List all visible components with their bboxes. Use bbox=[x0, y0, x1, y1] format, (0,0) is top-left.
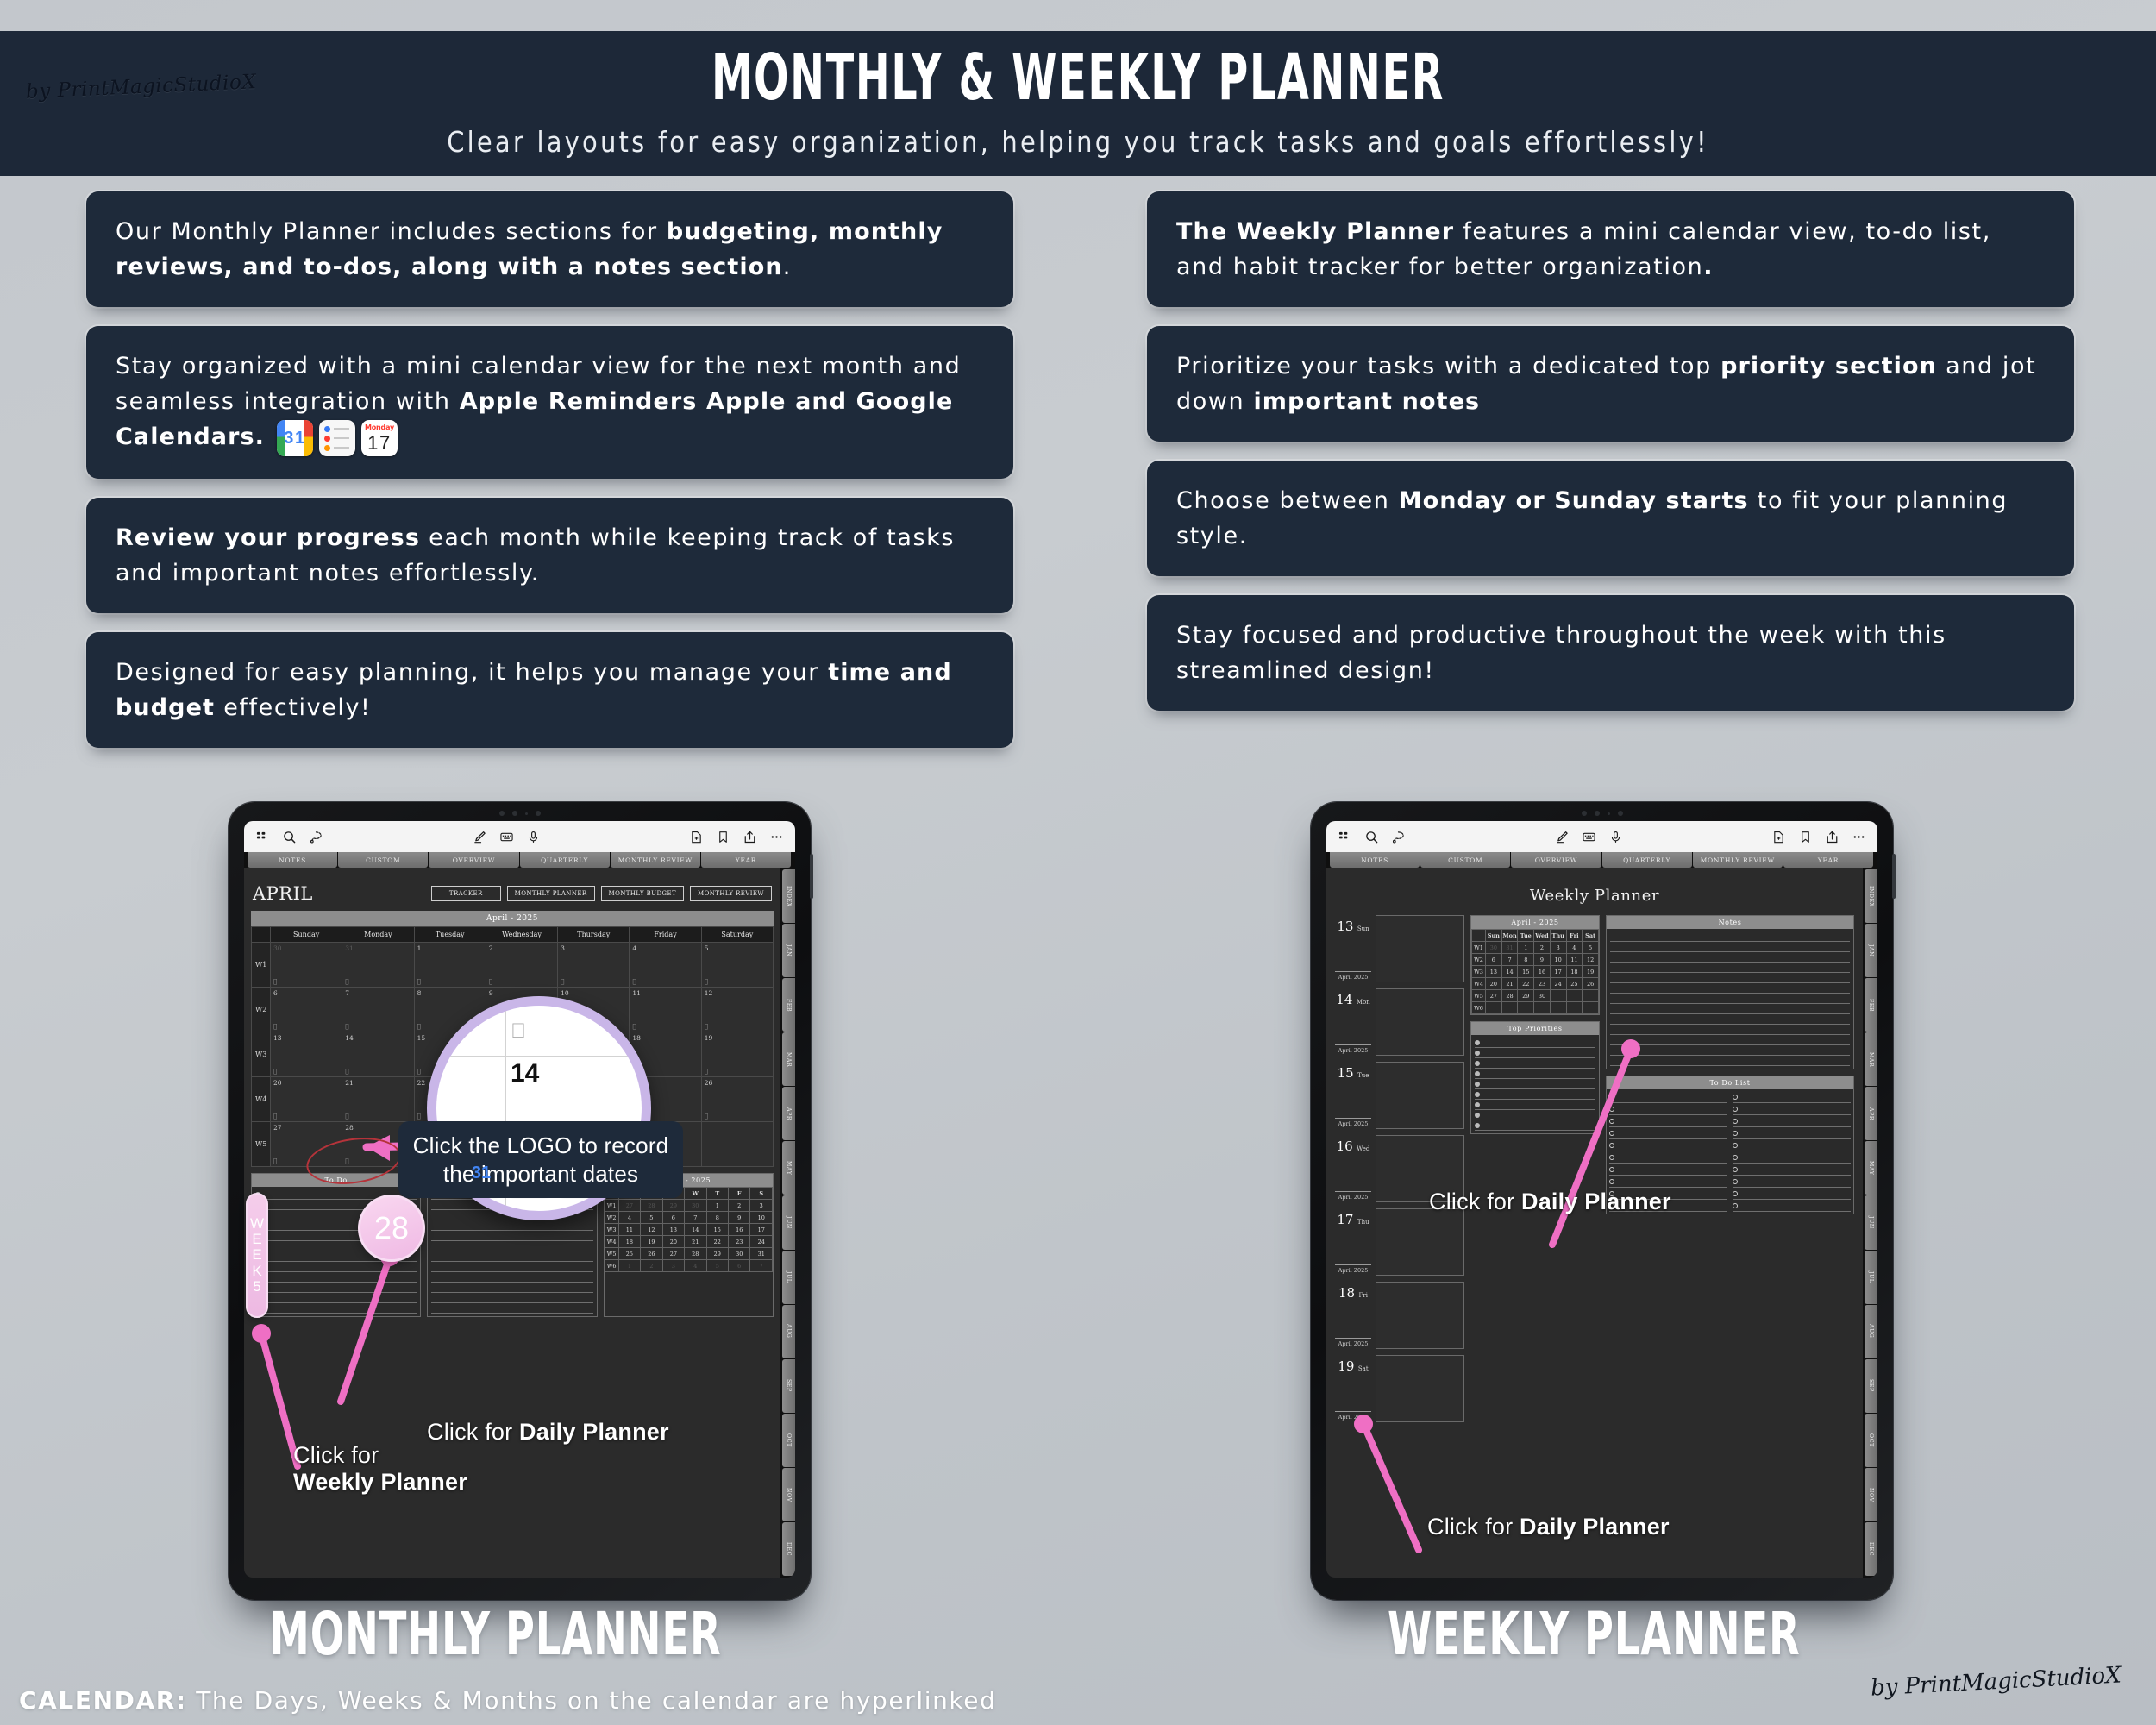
notebook-tab-overview[interactable]: OVERVIEW bbox=[429, 852, 518, 868]
mini-day-cell[interactable]: 7 bbox=[1501, 954, 1518, 966]
mini-day-cell[interactable]: 22 bbox=[706, 1236, 728, 1248]
search-icon[interactable] bbox=[1365, 831, 1378, 844]
calendar-day-cell[interactable]: 3 bbox=[558, 943, 630, 988]
calendar-week-label[interactable]: W3 bbox=[252, 1032, 271, 1077]
mini-day-cell[interactable]: 27 bbox=[1486, 990, 1502, 1002]
mini-day-cell[interactable]: 17 bbox=[750, 1224, 773, 1236]
mini-day-cell[interactable]: 11 bbox=[1566, 954, 1583, 966]
weekly-todo-column-b[interactable] bbox=[1730, 1089, 1853, 1214]
calendar-day-cell[interactable]: 4 bbox=[630, 943, 701, 988]
mini-day-cell[interactable]: 25 bbox=[618, 1248, 640, 1260]
notes-line[interactable] bbox=[431, 1272, 592, 1283]
mini-day-cell[interactable]: 24 bbox=[750, 1236, 773, 1248]
weekly-day-writing-area[interactable] bbox=[1376, 1282, 1464, 1349]
apple-logo-icon[interactable]:  bbox=[417, 1023, 421, 1030]
apple-logo-icon[interactable]:  bbox=[273, 1157, 277, 1164]
weekly-notes-line[interactable] bbox=[1610, 952, 1850, 963]
feature-card-text: effectively! bbox=[215, 694, 371, 721]
month-tab-apr[interactable]: APR bbox=[1865, 1087, 1877, 1140]
top-priorities-panel: Top Priorities bbox=[1470, 1021, 1600, 1134]
mini-day-cell[interactable]: 7 bbox=[685, 1212, 706, 1224]
mini-day-cell[interactable]: 27 bbox=[662, 1248, 684, 1260]
apple-logo-icon[interactable]:  bbox=[417, 1068, 421, 1075]
notebook-tab-year[interactable]: YEAR bbox=[701, 852, 791, 868]
priority-list-item[interactable] bbox=[1475, 1110, 1595, 1120]
weekly-todo-item[interactable] bbox=[1609, 1139, 1727, 1151]
priority-list-item[interactable] bbox=[1475, 1048, 1595, 1058]
notebook-tab-quarterly[interactable]: QUARTERLY bbox=[1602, 852, 1692, 868]
mini-day-cell[interactable]: 3 bbox=[662, 1260, 684, 1272]
date-bubble-28[interactable]: 28 bbox=[358, 1195, 425, 1262]
list-bullet bbox=[1733, 1191, 1738, 1196]
weekly-todo-item[interactable] bbox=[1733, 1176, 1851, 1188]
calendar-day-cell[interactable]: 13 bbox=[271, 1032, 342, 1077]
mini-week-label[interactable]: W4 bbox=[1472, 978, 1486, 990]
month-tab-may[interactable]: MAY bbox=[782, 1141, 795, 1195]
mini-day-cell[interactable]: 5 bbox=[641, 1212, 662, 1224]
todo-list-item[interactable] bbox=[255, 1283, 417, 1293]
weekly-notes-line[interactable] bbox=[1610, 942, 1850, 952]
todo-list-item[interactable] bbox=[255, 1303, 417, 1314]
weekly-notes-line[interactable] bbox=[1610, 1025, 1850, 1035]
mini-day-cell[interactable] bbox=[1583, 990, 1599, 1002]
mini-day-cell[interactable]: 28 bbox=[685, 1248, 706, 1260]
calendar-weekday-header: Wednesday bbox=[486, 927, 557, 943]
grid-icon[interactable] bbox=[1338, 831, 1351, 844]
mini-day-cell[interactable] bbox=[1486, 1002, 1502, 1014]
mini-day-cell[interactable]: 4 bbox=[1566, 942, 1583, 954]
mini-day-cell[interactable] bbox=[1583, 1002, 1599, 1014]
mini-day-cell[interactable]: 24 bbox=[1550, 978, 1566, 990]
weekly-notes-line[interactable] bbox=[1610, 1014, 1850, 1025]
weekly-day-row[interactable]: 17 ThuApril 2025 bbox=[1335, 1208, 1464, 1276]
mini-day-cell[interactable]: 25 bbox=[1566, 978, 1583, 990]
weekly-notes-line[interactable] bbox=[1610, 1004, 1850, 1014]
notes-line[interactable] bbox=[431, 1220, 592, 1231]
weekly-day-row[interactable]: 13 SunApril 2025 bbox=[1335, 915, 1464, 982]
mini-week-label[interactable]: W3 bbox=[605, 1224, 618, 1236]
add-page-icon[interactable] bbox=[1772, 831, 1785, 844]
apple-logo-icon[interactable]:  bbox=[273, 1113, 277, 1120]
month-tab-jul[interactable]: JUL bbox=[1865, 1251, 1877, 1304]
todo-list-item[interactable] bbox=[255, 1272, 417, 1283]
mini-day-cell[interactable]: 1 bbox=[706, 1200, 728, 1212]
pen-icon[interactable] bbox=[473, 831, 486, 844]
calendar-day-cell[interactable]: 20 bbox=[271, 1077, 342, 1122]
priority-list-item[interactable] bbox=[1475, 1079, 1595, 1089]
apple-logo-icon[interactable]:  bbox=[417, 1113, 421, 1120]
month-tab-apr[interactable]: APR bbox=[782, 1087, 795, 1140]
weekly-todo-item[interactable] bbox=[1733, 1151, 1851, 1164]
mini-day-cell[interactable]: 11 bbox=[618, 1224, 640, 1236]
monthly-button-monthly-planner[interactable]: MONTHLY PLANNER bbox=[507, 886, 595, 901]
mini-week-row: W420212223242526 bbox=[1472, 978, 1599, 990]
bookmark-icon[interactable] bbox=[717, 831, 730, 844]
mini-day-cell[interactable]: 16 bbox=[729, 1224, 750, 1236]
calendar-day-cell[interactable]: 14 bbox=[342, 1032, 414, 1077]
keyboard-icon[interactable] bbox=[500, 831, 513, 844]
weekly-day-label[interactable]: 15 TueApril 2025 bbox=[1335, 1062, 1371, 1129]
apple-logo-icon[interactable]:  bbox=[705, 1023, 708, 1030]
weekly-todo-item[interactable] bbox=[1609, 1164, 1727, 1176]
notes-line[interactable] bbox=[431, 1241, 592, 1251]
mini-day-cell[interactable] bbox=[1550, 990, 1566, 1002]
apple-logo-icon[interactable]:  bbox=[705, 978, 708, 985]
weekly-todo-item[interactable] bbox=[1733, 1115, 1851, 1127]
weekly-todo-item[interactable] bbox=[1609, 1151, 1727, 1164]
mini-day-cell[interactable]: 26 bbox=[1583, 978, 1599, 990]
mini-week-label[interactable]: W3 bbox=[1472, 966, 1486, 978]
weekly-day-row[interactable]: 15 TueApril 2025 bbox=[1335, 1062, 1464, 1129]
mini-day-cell[interactable]: 29 bbox=[662, 1200, 684, 1212]
calendar-day-cell[interactable]: 12 bbox=[701, 988, 773, 1032]
week5-char: E bbox=[252, 1232, 261, 1247]
google-calendar-icon[interactable]: 31 bbox=[459, 1151, 504, 1195]
mini-day-cell[interactable]: 30 bbox=[685, 1200, 706, 1212]
weekly-day-writing-area[interactable] bbox=[1376, 1062, 1464, 1129]
apple-logo-icon[interactable]:  bbox=[705, 1068, 708, 1075]
mini-day-cell[interactable]: 13 bbox=[1486, 966, 1502, 978]
month-tab-jul[interactable]: JUL bbox=[782, 1251, 795, 1304]
priority-list-item[interactable] bbox=[1475, 1100, 1595, 1110]
notes-line[interactable] bbox=[431, 1262, 592, 1272]
month-tab-index[interactable]: INDEX bbox=[782, 869, 795, 923]
top-priorities-lines[interactable] bbox=[1471, 1035, 1599, 1133]
calendar-day-cell[interactable]: 6 bbox=[271, 988, 342, 1032]
mini-day-cell[interactable]: 14 bbox=[1501, 966, 1518, 978]
mini-day-cell[interactable]: 22 bbox=[1518, 978, 1534, 990]
weekly-notes-line[interactable] bbox=[1610, 1045, 1850, 1056]
apple-logo-icon[interactable]:  bbox=[273, 978, 277, 985]
grid-icon[interactable] bbox=[256, 831, 269, 844]
mini-day-cell[interactable]: 31 bbox=[1501, 942, 1518, 954]
month-tab-jun[interactable]: JUN bbox=[782, 1195, 795, 1249]
lasso-icon[interactable] bbox=[1392, 831, 1405, 844]
mini-week-label[interactable]: W5 bbox=[1472, 990, 1486, 1002]
mini-day-cell[interactable]: 9 bbox=[1534, 954, 1551, 966]
mini-day-cell[interactable]: 6 bbox=[729, 1260, 750, 1272]
weekly-todo-item[interactable] bbox=[1609, 1127, 1727, 1139]
share-icon[interactable] bbox=[1826, 831, 1839, 844]
calendar-day-cell[interactable]: 1 bbox=[414, 943, 486, 988]
mini-day-cell[interactable]: 19 bbox=[641, 1236, 662, 1248]
mini-day-cell[interactable]: 30 bbox=[729, 1248, 750, 1260]
search-icon[interactable] bbox=[283, 831, 296, 844]
month-tab-index[interactable]: INDEX bbox=[1865, 869, 1877, 923]
apple-logo-icon[interactable]:  bbox=[273, 1068, 277, 1075]
add-page-icon[interactable] bbox=[690, 831, 703, 844]
notes-line[interactable] bbox=[431, 1251, 592, 1262]
todo-list-item[interactable] bbox=[255, 1293, 417, 1303]
weekly-todo-item[interactable] bbox=[1609, 1115, 1727, 1127]
weekly-day-weekday: Wed bbox=[1357, 1145, 1369, 1152]
mini-day-cell[interactable]: 26 bbox=[641, 1248, 662, 1260]
month-tab-dec[interactable]: DEC bbox=[1865, 1522, 1877, 1576]
weekly-todo-item[interactable] bbox=[1733, 1103, 1851, 1115]
weekly-todo-item[interactable] bbox=[1733, 1200, 1851, 1212]
month-tab-feb[interactable]: FEB bbox=[782, 978, 795, 1032]
calendar-day-cell[interactable]: 19 bbox=[701, 1032, 773, 1077]
calendar-day-cell[interactable]: 2 bbox=[486, 943, 557, 988]
mini-day-cell[interactable]: 2 bbox=[641, 1260, 662, 1272]
weekly-notes-line[interactable] bbox=[1610, 931, 1850, 942]
notebook-tab-overview[interactable]: OVERVIEW bbox=[1511, 852, 1601, 868]
apple-logo-icon[interactable]:  bbox=[345, 1023, 348, 1030]
mini-day-cell[interactable]: 20 bbox=[1486, 978, 1502, 990]
month-tab-feb[interactable]: FEB bbox=[1865, 978, 1877, 1032]
mini-day-cell[interactable]: 3 bbox=[750, 1200, 773, 1212]
mini-day-cell[interactable]: 10 bbox=[750, 1212, 773, 1224]
annotation-prefix: Click for bbox=[1427, 1514, 1520, 1540]
apple-reminders-icon[interactable] bbox=[319, 420, 355, 456]
mini-day-cell[interactable] bbox=[1518, 1002, 1534, 1014]
monthly-button-monthly-budget[interactable]: MONTHLY BUDGET bbox=[601, 886, 684, 901]
month-tab-mar[interactable]: MAR bbox=[1865, 1032, 1877, 1086]
week5-char: E bbox=[252, 1247, 261, 1263]
weekly-todo-item[interactable] bbox=[1609, 1103, 1727, 1115]
month-tab-jan[interactable]: JAN bbox=[782, 924, 795, 977]
mini-day-cell[interactable]: 1 bbox=[618, 1260, 640, 1272]
weekly-todo-item[interactable] bbox=[1733, 1127, 1851, 1139]
apple-logo-icon[interactable]:  bbox=[345, 1113, 348, 1120]
mini-day-cell[interactable]: 19 bbox=[1583, 966, 1599, 978]
apple-logo-icon[interactable]:  bbox=[417, 978, 421, 985]
priority-list-item[interactable] bbox=[1475, 1069, 1595, 1079]
mini-day-cell[interactable]: 20 bbox=[662, 1236, 684, 1248]
weekly-day-row[interactable]: 18 FriApril 2025 bbox=[1335, 1282, 1464, 1349]
weekly-day-writing-area[interactable] bbox=[1376, 1355, 1464, 1422]
notes-line[interactable] bbox=[431, 1293, 592, 1303]
more-icon[interactable] bbox=[1852, 831, 1865, 844]
weekly-notes-line[interactable] bbox=[1610, 994, 1850, 1004]
mini-day-cell[interactable]: 4 bbox=[685, 1260, 706, 1272]
weekly-todo-item[interactable] bbox=[1733, 1091, 1851, 1103]
mini-day-cell[interactable]: 21 bbox=[1501, 978, 1518, 990]
mini-day-cell[interactable] bbox=[1501, 1002, 1518, 1014]
mini-day-cell[interactable]: 21 bbox=[685, 1236, 706, 1248]
weekly-mini-grid[interactable]: SunMonTueWedThuFriSatW1303112345W2678910… bbox=[1471, 929, 1599, 1014]
mini-day-cell[interactable]: 15 bbox=[1518, 966, 1534, 978]
notebook-tab-monthly-review[interactable]: MONTHLY REVIEW bbox=[1693, 852, 1783, 868]
weekly-day-label[interactable]: 16 WedApril 2025 bbox=[1335, 1135, 1371, 1202]
mini-day-cell[interactable]: 16 bbox=[1534, 966, 1551, 978]
mini-day-cell[interactable]: 2 bbox=[729, 1200, 750, 1212]
mini-day-cell[interactable] bbox=[1550, 1002, 1566, 1014]
mini-day-cell[interactable]: 6 bbox=[1486, 954, 1502, 966]
mini-week-row: W527282930 bbox=[1472, 990, 1599, 1002]
apple-calendar-icon[interactable]: Monday17 bbox=[361, 420, 398, 456]
month-tab-oct[interactable]: OCT bbox=[782, 1414, 795, 1467]
weekly-todo-item[interactable] bbox=[1733, 1139, 1851, 1151]
mini-day-cell[interactable]: 23 bbox=[729, 1236, 750, 1248]
weekly-day-label[interactable]: 14 MonApril 2025 bbox=[1335, 988, 1371, 1056]
mini-day-cell[interactable]: 2 bbox=[1534, 942, 1551, 954]
weekly-notes-lines[interactable] bbox=[1607, 929, 1853, 1069]
microphone-icon[interactable] bbox=[527, 831, 540, 844]
weekly-day-writing-area[interactable] bbox=[1376, 988, 1464, 1056]
mini-day-cell[interactable]: 14 bbox=[685, 1224, 706, 1236]
notes-line[interactable] bbox=[431, 1303, 592, 1314]
calendar-day-cell[interactable]: 5 bbox=[701, 943, 773, 988]
keyboard-icon[interactable] bbox=[1583, 831, 1595, 844]
weekly-day-writing-area[interactable] bbox=[1376, 1208, 1464, 1276]
mini-day-cell[interactable]: 12 bbox=[1583, 954, 1599, 966]
list-bullet bbox=[1475, 1113, 1480, 1118]
more-icon[interactable] bbox=[770, 831, 783, 844]
monthly-button-tracker[interactable]: TRACKER bbox=[431, 886, 501, 901]
mini-day-cell[interactable]: 29 bbox=[706, 1248, 728, 1260]
priority-list-item[interactable] bbox=[1475, 1120, 1595, 1131]
mini-day-cell[interactable]: 1 bbox=[1518, 942, 1534, 954]
calendar-day-cell[interactable] bbox=[701, 1122, 773, 1167]
mini-day-cell[interactable]: 5 bbox=[706, 1260, 728, 1272]
weekly-todo-item[interactable] bbox=[1609, 1176, 1727, 1188]
mini-day-cell[interactable]: 18 bbox=[1566, 966, 1583, 978]
annotation-bold: Daily Planner bbox=[1520, 1514, 1670, 1540]
weekly-todo-item[interactable] bbox=[1609, 1091, 1727, 1103]
mini-day-cell[interactable]: 30 bbox=[1534, 990, 1551, 1002]
calendar-week-label[interactable]: W2 bbox=[252, 988, 271, 1032]
notebook-tab-notes[interactable]: NOTES bbox=[248, 852, 337, 868]
mini-day-cell[interactable]: 31 bbox=[750, 1248, 773, 1260]
mini-week-label[interactable]: W2 bbox=[605, 1212, 618, 1224]
weekly-day-label[interactable]: 19 SatApril 2025 bbox=[1335, 1355, 1371, 1422]
calendar-day-cell[interactable]: 7 bbox=[342, 988, 414, 1032]
mini-day-cell[interactable]: 15 bbox=[706, 1224, 728, 1236]
bookmark-icon[interactable] bbox=[1799, 831, 1812, 844]
mini-day-cell[interactable]: 13 bbox=[662, 1224, 684, 1236]
month-tab-nov[interactable]: NOV bbox=[1865, 1468, 1877, 1521]
mini-day-cell[interactable]: 17 bbox=[1550, 966, 1566, 978]
notebook-tab-quarterly[interactable]: QUARTERLY bbox=[520, 852, 610, 868]
weekly-notes-line[interactable] bbox=[1610, 983, 1850, 994]
weekly-day-row[interactable]: 19 SatApril 2025 bbox=[1335, 1355, 1464, 1422]
apple-logo-icon[interactable]:  bbox=[561, 978, 564, 985]
weekly-todo-item[interactable] bbox=[1733, 1188, 1851, 1200]
week5-side-tab[interactable]: W E E K 5 bbox=[246, 1193, 268, 1318]
month-tab-dec[interactable]: DEC bbox=[782, 1522, 795, 1576]
month-tab-jun[interactable]: JUN bbox=[1865, 1195, 1877, 1249]
mini-day-cell[interactable]: 23 bbox=[1534, 978, 1551, 990]
month-tab-aug[interactable]: AUG bbox=[782, 1305, 795, 1358]
microphone-icon[interactable] bbox=[1609, 831, 1622, 844]
weekly-todo-item[interactable] bbox=[1733, 1164, 1851, 1176]
mini-day-cell[interactable]: 30 bbox=[1486, 942, 1502, 954]
mini-day-cell[interactable]: 28 bbox=[1501, 990, 1518, 1002]
weekly-notes-line[interactable] bbox=[1610, 1035, 1850, 1045]
mini-day-cell[interactable]: 6 bbox=[662, 1212, 684, 1224]
apple-logo-icon[interactable]:  bbox=[511, 1019, 526, 1044]
mini-day-cell[interactable]: 5 bbox=[1583, 942, 1599, 954]
month-tab-oct[interactable]: OCT bbox=[1865, 1414, 1877, 1467]
notebook-tab-custom[interactable]: CUSTOM bbox=[338, 852, 428, 868]
calendar-week-label[interactable]: W4 bbox=[252, 1077, 271, 1122]
mini-week-label[interactable]: W5 bbox=[605, 1248, 618, 1260]
priority-list-item[interactable] bbox=[1475, 1089, 1595, 1100]
mini-week-label[interactable]: W4 bbox=[605, 1236, 618, 1248]
priority-list-item[interactable] bbox=[1475, 1038, 1595, 1048]
calendar-week-label[interactable]: W5 bbox=[252, 1122, 271, 1167]
mini-day-cell[interactable]: 7 bbox=[750, 1260, 773, 1272]
calendar-day-cell[interactable]: 30 bbox=[271, 943, 342, 988]
apple-logo-icon[interactable]:  bbox=[489, 978, 492, 985]
google-calendar-icon[interactable]: 31 bbox=[277, 420, 313, 456]
calendar-day-cell[interactable]: 26 bbox=[701, 1077, 773, 1122]
power-button[interactable] bbox=[1892, 854, 1896, 899]
month-tab-may[interactable]: MAY bbox=[1865, 1141, 1877, 1195]
monthly-button-monthly-review[interactable]: MONTHLY REVIEW bbox=[690, 886, 772, 901]
apple-logo-icon[interactable]:  bbox=[345, 1068, 348, 1075]
weekly-notes-line[interactable] bbox=[1610, 963, 1850, 973]
mini-day-cell[interactable]: 29 bbox=[1518, 990, 1534, 1002]
todo-list-item[interactable] bbox=[255, 1262, 417, 1272]
feature-card: Review your progress each month while ke… bbox=[86, 498, 1013, 613]
month-tab-aug[interactable]: AUG bbox=[1865, 1305, 1877, 1358]
mini-week-row: W418192021222324 bbox=[605, 1236, 772, 1248]
mini-day-cell[interactable]: 12 bbox=[641, 1224, 662, 1236]
mini-day-cell[interactable]: 4 bbox=[618, 1212, 640, 1224]
mini-day-cell[interactable]: 10 bbox=[1550, 954, 1566, 966]
apple-logo-icon[interactable]:  bbox=[705, 1113, 708, 1120]
mini-day-cell[interactable] bbox=[1566, 990, 1583, 1002]
mini-day-cell[interactable] bbox=[1566, 1002, 1583, 1014]
weekly-day-label[interactable]: 18 FriApril 2025 bbox=[1335, 1282, 1371, 1349]
lasso-icon[interactable] bbox=[310, 831, 323, 844]
notebook-tab-year[interactable]: YEAR bbox=[1783, 852, 1873, 868]
month-tab-sep[interactable]: SEP bbox=[1865, 1359, 1877, 1413]
apple-logo-icon[interactable]:  bbox=[632, 978, 636, 985]
mini-day-cell[interactable]: 8 bbox=[1518, 954, 1534, 966]
notes-line[interactable] bbox=[431, 1283, 592, 1293]
mini-day-cell[interactable] bbox=[1534, 1002, 1551, 1014]
mini-day-cell[interactable]: 28 bbox=[641, 1200, 662, 1212]
pen-icon[interactable] bbox=[1556, 831, 1569, 844]
month-tab-jan[interactable]: JAN bbox=[1865, 924, 1877, 977]
month-tab-mar[interactable]: MAR bbox=[782, 1032, 795, 1086]
weekly-day-row[interactable]: 14 MonApril 2025 bbox=[1335, 988, 1464, 1056]
weekly-notes-line[interactable] bbox=[1610, 973, 1850, 983]
mini-day-cell[interactable]: 18 bbox=[618, 1236, 640, 1248]
mini-week-label[interactable]: W1 bbox=[1472, 942, 1486, 954]
calendar-day-cell[interactable]: 31 bbox=[342, 943, 414, 988]
month-tab-sep[interactable]: SEP bbox=[782, 1359, 795, 1413]
weekly-day-label[interactable]: 17 ThuApril 2025 bbox=[1335, 1208, 1371, 1276]
calendar-week-label[interactable]: W1 bbox=[252, 943, 271, 988]
calendar-day-cell[interactable]: 21 bbox=[342, 1077, 414, 1122]
mini-week-row: W1303112345 bbox=[1472, 942, 1599, 954]
apple-logo-icon[interactable]:  bbox=[345, 978, 348, 985]
mini-week-label[interactable]: W6 bbox=[605, 1260, 618, 1272]
priority-list-item[interactable] bbox=[1475, 1058, 1595, 1069]
mini-week-label[interactable]: W2 bbox=[1472, 954, 1486, 966]
mini-day-cell[interactable]: 8 bbox=[706, 1212, 728, 1224]
share-icon[interactable] bbox=[743, 831, 756, 844]
month-tab-nov[interactable]: NOV bbox=[782, 1468, 795, 1521]
weekly-day-label[interactable]: 13 SunApril 2025 bbox=[1335, 915, 1371, 982]
mini-week-label[interactable]: W6 bbox=[1472, 1002, 1486, 1014]
notebook-tab-notes[interactable]: NOTES bbox=[1330, 852, 1420, 868]
weekly-notes-line[interactable] bbox=[1610, 1056, 1850, 1066]
weekly-middle-column: April - 2025 SunMonTueWedThuFriSatW13031… bbox=[1470, 915, 1600, 1428]
weekly-day-writing-area[interactable] bbox=[1376, 915, 1464, 982]
power-button[interactable] bbox=[810, 854, 813, 899]
mini-day-cell[interactable]: 9 bbox=[729, 1212, 750, 1224]
mini-day-cell[interactable]: 3 bbox=[1550, 942, 1566, 954]
notebook-tab-custom[interactable]: CUSTOM bbox=[1420, 852, 1510, 868]
apple-logo-icon[interactable]:  bbox=[273, 1023, 277, 1030]
notebook-tab-monthly-review[interactable]: MONTHLY REVIEW bbox=[611, 852, 700, 868]
notes-line[interactable] bbox=[431, 1231, 592, 1241]
